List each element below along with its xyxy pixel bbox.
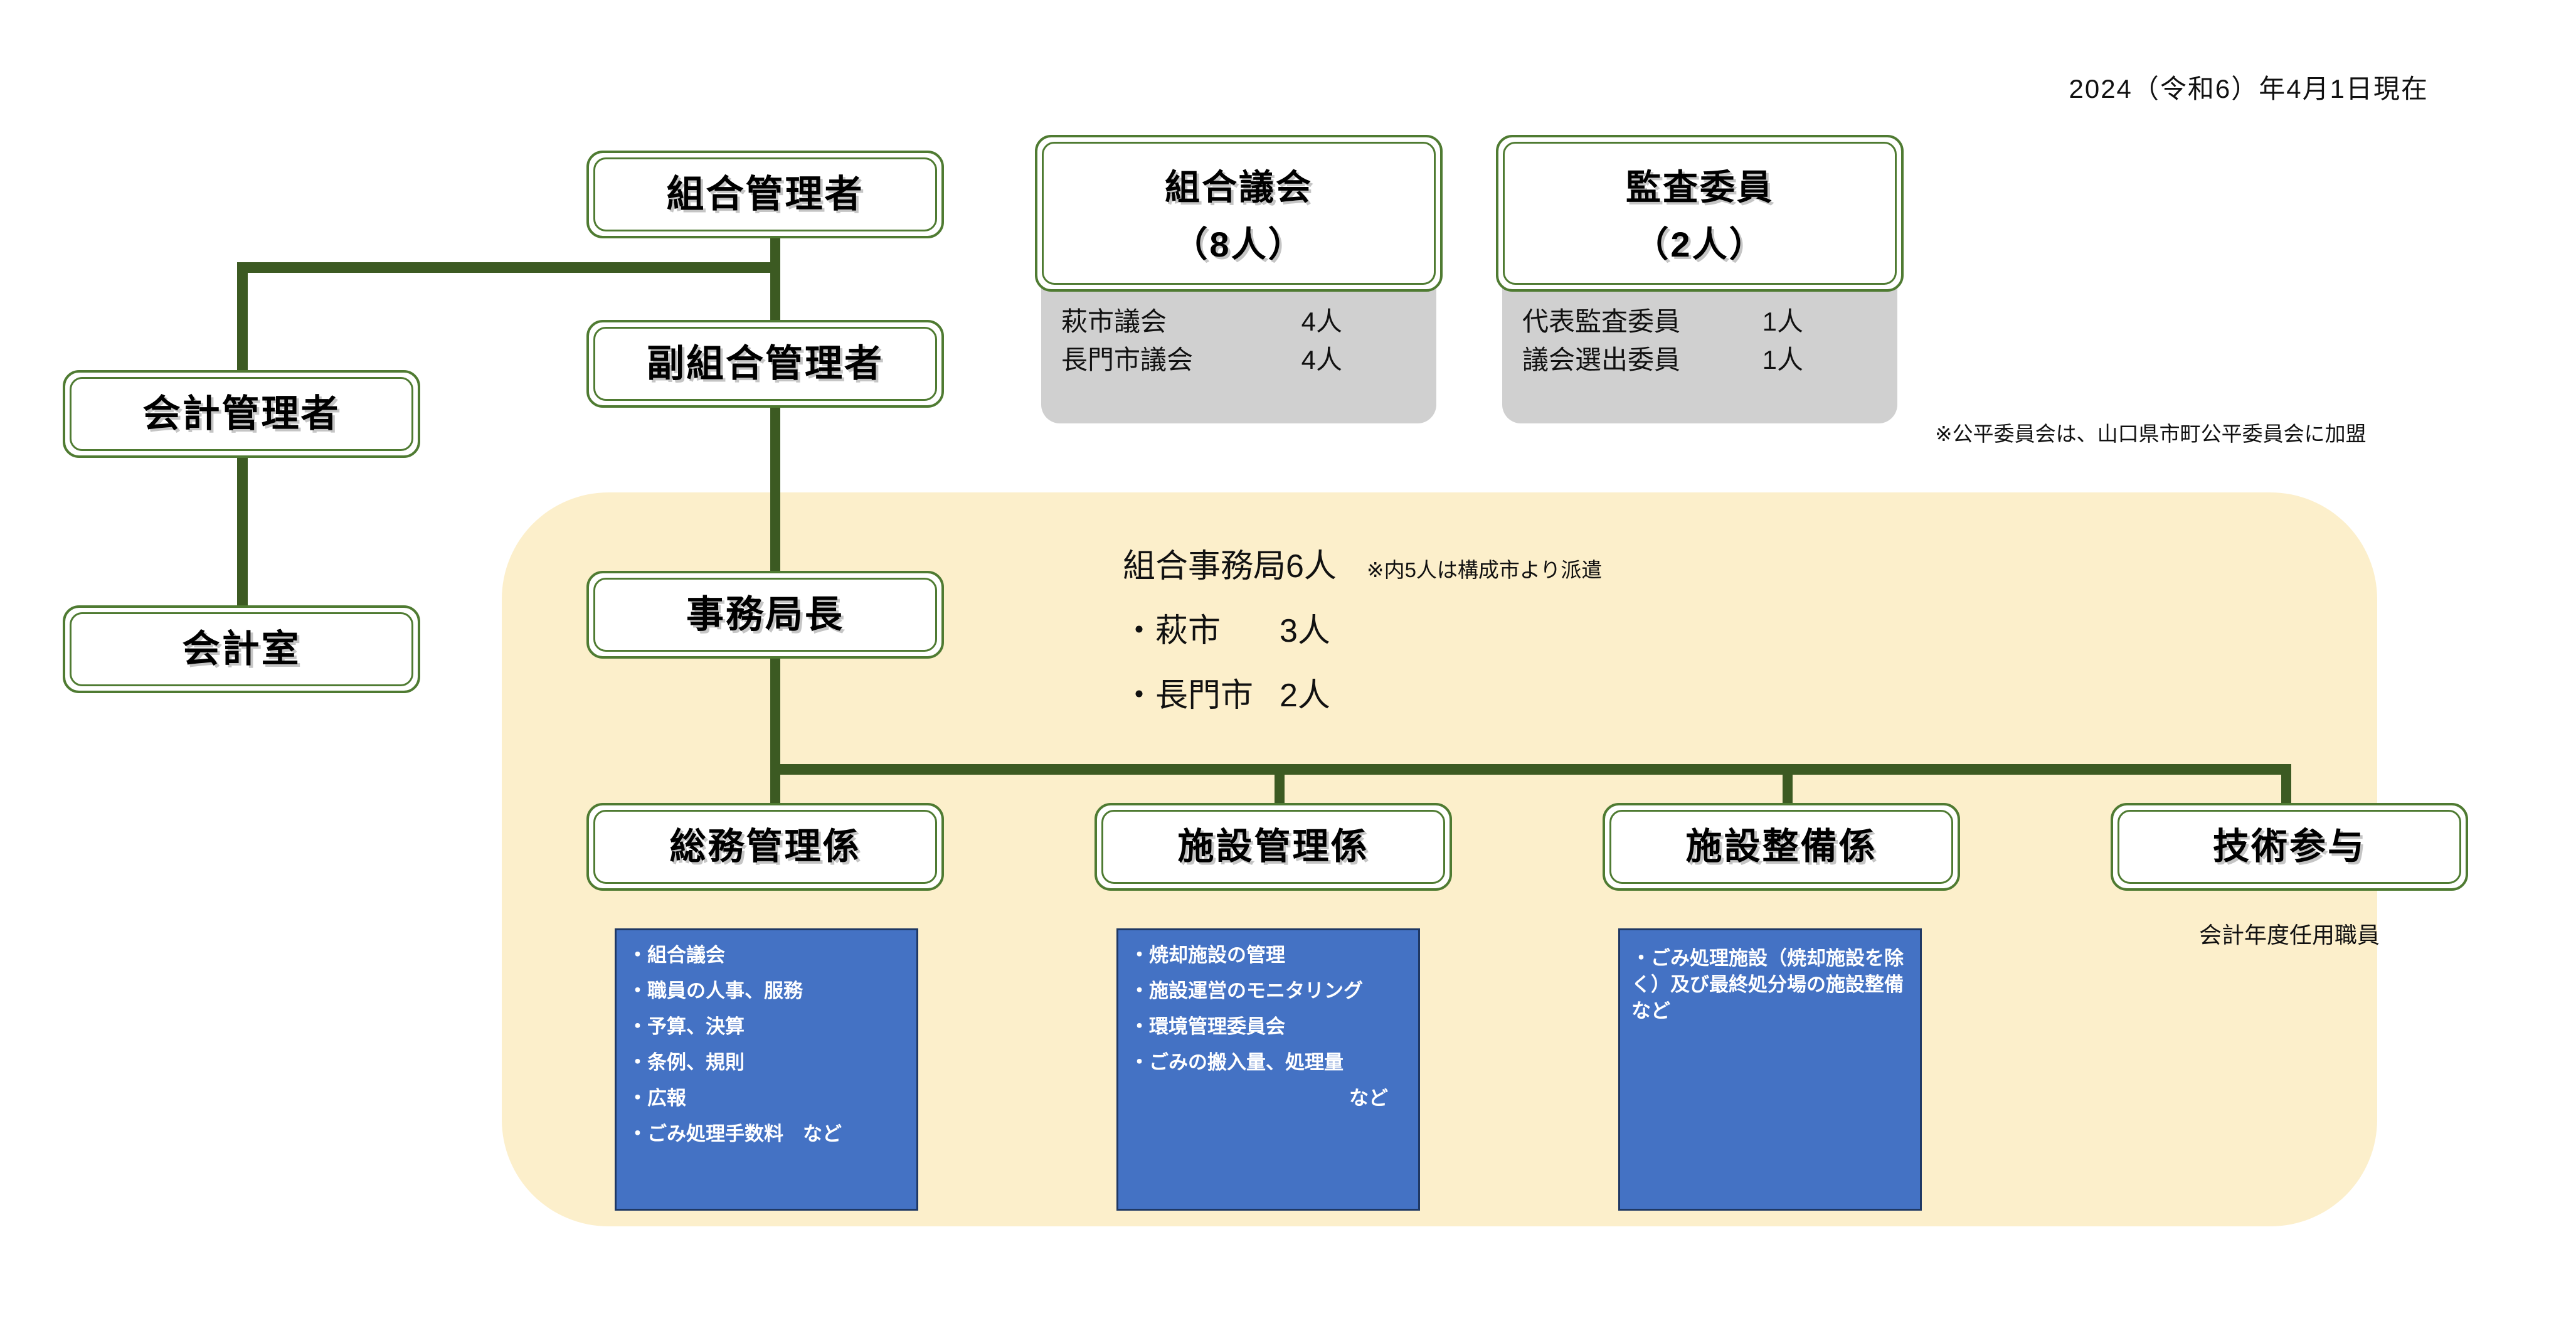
node-gijutsu-sanyo[interactable]: 技術参与 — [2111, 803, 2468, 891]
as-of-date: 2024（令和6）年4月1日現在 — [2069, 68, 2429, 106]
node-kaikeishitsu[interactable]: 会計室 — [63, 605, 420, 693]
node-fuku-kumiai-kanrisha[interactable]: 副組合管理者 — [586, 320, 944, 408]
secretariat-headline: 組合事務局6人 — [1123, 539, 1337, 587]
duty-item: ・ごみの搬入量、処理量 — [1130, 1053, 1407, 1072]
secretariat-headline-note: ※内5人は構成市より派遣 — [1367, 553, 1602, 583]
secretariat-city: ・長門市 — [1123, 669, 1280, 716]
connector-trunk-top — [770, 237, 780, 321]
node-label: 会計管理者 — [143, 393, 341, 435]
breakdown-value: 1人 — [1762, 341, 1904, 380]
kohei-iinkai-note: ※公平委員会は、山口県市町公平委員会に加盟 — [1935, 417, 2367, 447]
secretariat-count: 2人 — [1280, 669, 1330, 716]
node-shisetsu-kanri-kakari[interactable]: 施設管理係 — [1095, 803, 1452, 891]
duty-item: ・焼却施設の管理 — [1130, 945, 1407, 965]
committee-box[interactable]: 監査委員 （2人） — [1496, 135, 1904, 292]
duty-item: ・環境管理委員会 — [1130, 1017, 1407, 1036]
duty-item-etc: など — [1130, 1088, 1407, 1108]
committee-breakdown-rows: 萩市議会 4人 長門市議会 4人 — [1035, 303, 1443, 380]
committee-count: （2人） — [1633, 216, 1766, 267]
connector-jimukyoku-down — [770, 657, 780, 805]
duty-item: ・条例、規則 — [628, 1053, 905, 1072]
duty-panel-shisetsu-seibi: ・ごみ処理施設（焼却施設を除く）及び最終処分場の施設整備 など — [1618, 928, 1922, 1211]
breakdown-value: 1人 — [1762, 303, 1904, 341]
duty-item: ・施設運営のモニタリング — [1130, 981, 1407, 1001]
secretariat-line: ・萩市 3人 — [1123, 604, 1602, 651]
org-chart-canvas: 2024（令和6）年4月1日現在 組合管理者 副組合管理者 会計管理者 会計室 … — [0, 0, 2576, 1338]
node-jimukyokucho[interactable]: 事務局長 — [586, 571, 944, 659]
breakdown-name: 長門市議会 — [1061, 341, 1193, 380]
committee-count: （8人） — [1172, 216, 1305, 267]
duty-panel-shisetsu-kanri: ・焼却施設の管理 ・施設運営のモニタリング ・環境管理委員会 ・ごみの搬入量、処… — [1116, 928, 1420, 1211]
connector-kaikei-to-shitsu — [237, 457, 248, 607]
secretariat-headline-row: 組合事務局6人 ※内5人は構成市より派遣 — [1123, 539, 1602, 587]
committee-title: 監査委員 — [1626, 159, 1774, 210]
duty-item: ・組合議会 — [628, 945, 905, 965]
connector-drop-shisetsu-kanri — [1275, 764, 1285, 807]
connector-bus-upper — [237, 262, 775, 273]
breakdown-row: 議会選出委員 1人 — [1522, 341, 1904, 380]
node-label: 総務管理係 — [669, 827, 861, 868]
secretariat-line: ・長門市 2人 — [1123, 669, 1602, 716]
duty-item: ・ごみ処理施設（焼却施設を除く）及び最終処分場の施設整備 など — [1631, 945, 1909, 1024]
breakdown-name: 萩市議会 — [1061, 303, 1167, 341]
breakdown-value: 4人 — [1301, 341, 1443, 380]
node-label: 技術参与 — [2213, 827, 2366, 868]
node-kaikei-kanrisha[interactable]: 会計管理者 — [63, 370, 420, 458]
committee-title: 組合議会 — [1165, 159, 1313, 210]
node-shisetsu-seibi-kakari[interactable]: 施設整備係 — [1603, 803, 1960, 891]
secretariat-count: 3人 — [1280, 604, 1330, 651]
connector-drop-gijutsu — [2281, 764, 2291, 807]
duty-item: ・職員の人事、服務 — [628, 981, 905, 1001]
connector-drop-shisetsu-seibi — [1783, 764, 1793, 807]
duty-item: ・広報 — [628, 1088, 905, 1108]
breakdown-name: 代表監査委員 — [1522, 303, 1680, 341]
duty-item: ・予算、決算 — [628, 1017, 905, 1036]
node-label: 施設管理係 — [1177, 827, 1369, 868]
duty-panel-soumu-kanri: ・組合議会 ・職員の人事、服務 ・予算、決算 ・条例、規則 ・広報 ・ごみ処理手… — [615, 928, 918, 1211]
breakdown-row: 萩市議会 4人 — [1061, 303, 1443, 341]
node-soumu-kanri-kakari[interactable]: 総務管理係 — [586, 803, 944, 891]
breakdown-row: 代表監査委員 1人 — [1522, 303, 1904, 341]
secretariat-city: ・萩市 — [1123, 604, 1280, 651]
node-kumiai-kanrisha[interactable]: 組合管理者 — [586, 151, 944, 238]
gijutsu-sanyo-caption: 会計年度任用職員 — [2111, 917, 2468, 950]
node-label: 会計室 — [183, 628, 301, 670]
committee-kumiai-gikai: 組合議会 （8人） 萩市議会 4人 長門市議会 4人 — [1035, 135, 1443, 380]
breakdown-row: 長門市議会 4人 — [1061, 341, 1443, 380]
node-label: 組合管理者 — [667, 173, 864, 215]
connector-branch-kaikei — [237, 262, 248, 372]
node-label: 事務局長 — [686, 593, 844, 635]
connector-bus-sections — [770, 764, 2291, 775]
committee-breakdown-rows: 代表監査委員 1人 議会選出委員 1人 — [1496, 303, 1904, 380]
secretariat-staffing: 組合事務局6人 ※内5人は構成市より派遣 ・萩市 3人 ・長門市 2人 — [1123, 539, 1602, 716]
node-label: 施設整備係 — [1685, 827, 1877, 868]
duty-item: ・ごみ処理手数料 など — [628, 1124, 905, 1144]
breakdown-name: 議会選出委員 — [1522, 341, 1680, 380]
committee-kansa-iin: 監査委員 （2人） 代表監査委員 1人 議会選出委員 1人 — [1496, 135, 1904, 380]
connector-fuku-to-jimukyoku — [770, 406, 780, 573]
committee-box[interactable]: 組合議会 （8人） — [1035, 135, 1443, 292]
node-label: 副組合管理者 — [647, 342, 884, 385]
breakdown-value: 4人 — [1301, 303, 1443, 341]
